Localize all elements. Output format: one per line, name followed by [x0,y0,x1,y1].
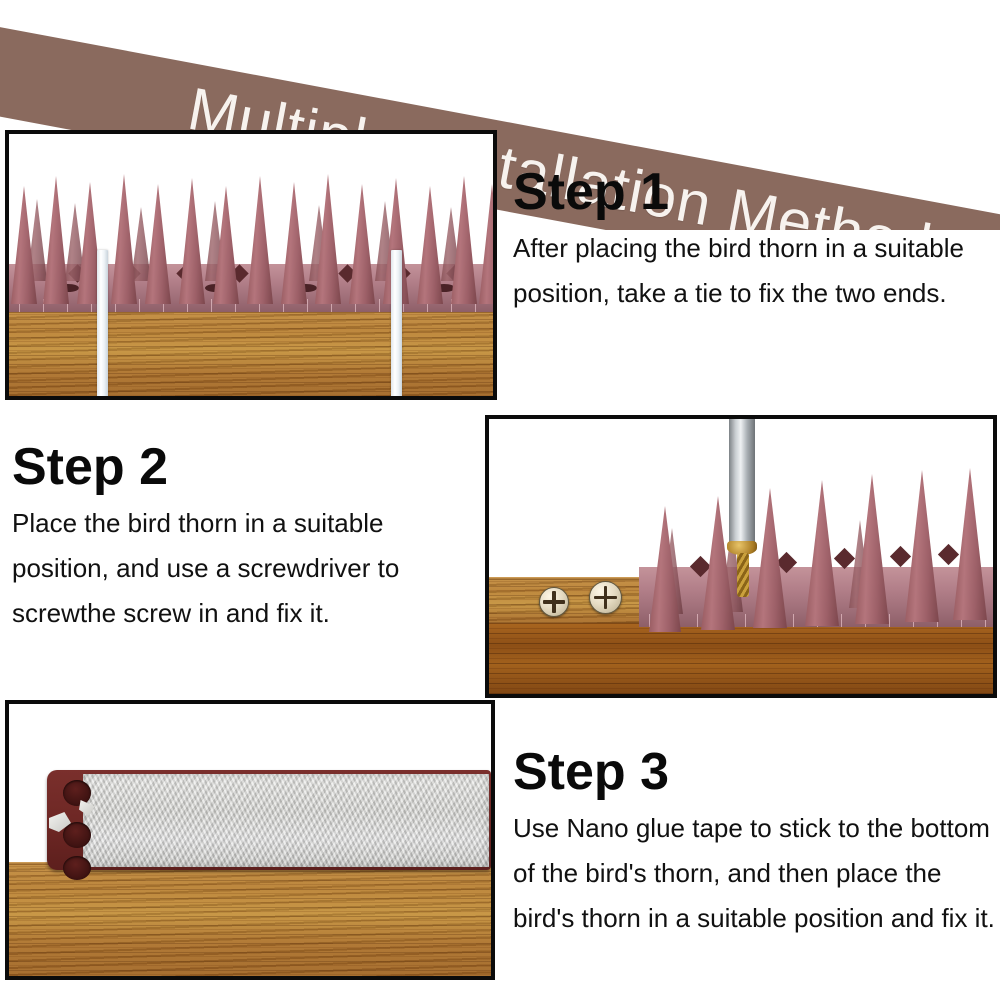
spike [111,174,137,304]
spike [479,184,493,304]
photo-screw-installation [489,419,993,694]
screwdriver-shaft [729,419,755,545]
step-3-photo-panel [5,700,495,980]
spike [179,178,205,304]
screw-thread [737,553,749,597]
mounting-hole [63,856,91,880]
spike [953,468,987,620]
spike [43,176,69,304]
spike [247,176,273,304]
spike [349,184,375,304]
step-1-text-block: Step 1 After placing the bird thorn in a… [513,165,993,316]
step-1-description: After placing the bird thorn in a suitab… [513,226,993,315]
wood-plank [9,310,493,396]
loose-screw [589,581,622,614]
spike [805,480,839,626]
photo-zip-tie-installation [9,134,493,396]
strip-diamond [834,548,855,569]
step-2-text-block: Step 2 Place the bird thorn in a suitabl… [12,440,472,635]
step-3-description: Use Nano glue tape to stick to the botto… [513,806,995,940]
zip-tie [391,250,402,396]
step-3-title: Step 3 [513,745,995,800]
step-2-title: Step 2 [12,440,472,495]
loose-screw [539,587,569,617]
strip-diamond [938,544,959,565]
step-3-text-block: Step 3 Use Nano glue tape to stick to th… [513,745,995,940]
mounting-hole [63,822,91,848]
step-1-title: Step 1 [513,165,993,220]
spike [145,184,171,304]
infographic-page: Multiple Installation Methods [0,0,1000,1000]
spike [417,186,443,304]
nano-glue-tape [83,774,489,867]
zip-tie [97,250,108,396]
step-2-description: Place the bird thorn in a suitable posit… [12,501,472,635]
mounting-hole [63,780,91,806]
strip-diamond [890,546,911,567]
step-1-photo-panel [5,130,497,400]
photo-nano-tape-installation [9,704,491,976]
spike-back [131,207,151,281]
spike [905,470,939,622]
step-2-photo-panel [485,415,997,698]
spike [281,182,307,304]
wood-plank-lower [489,623,993,694]
